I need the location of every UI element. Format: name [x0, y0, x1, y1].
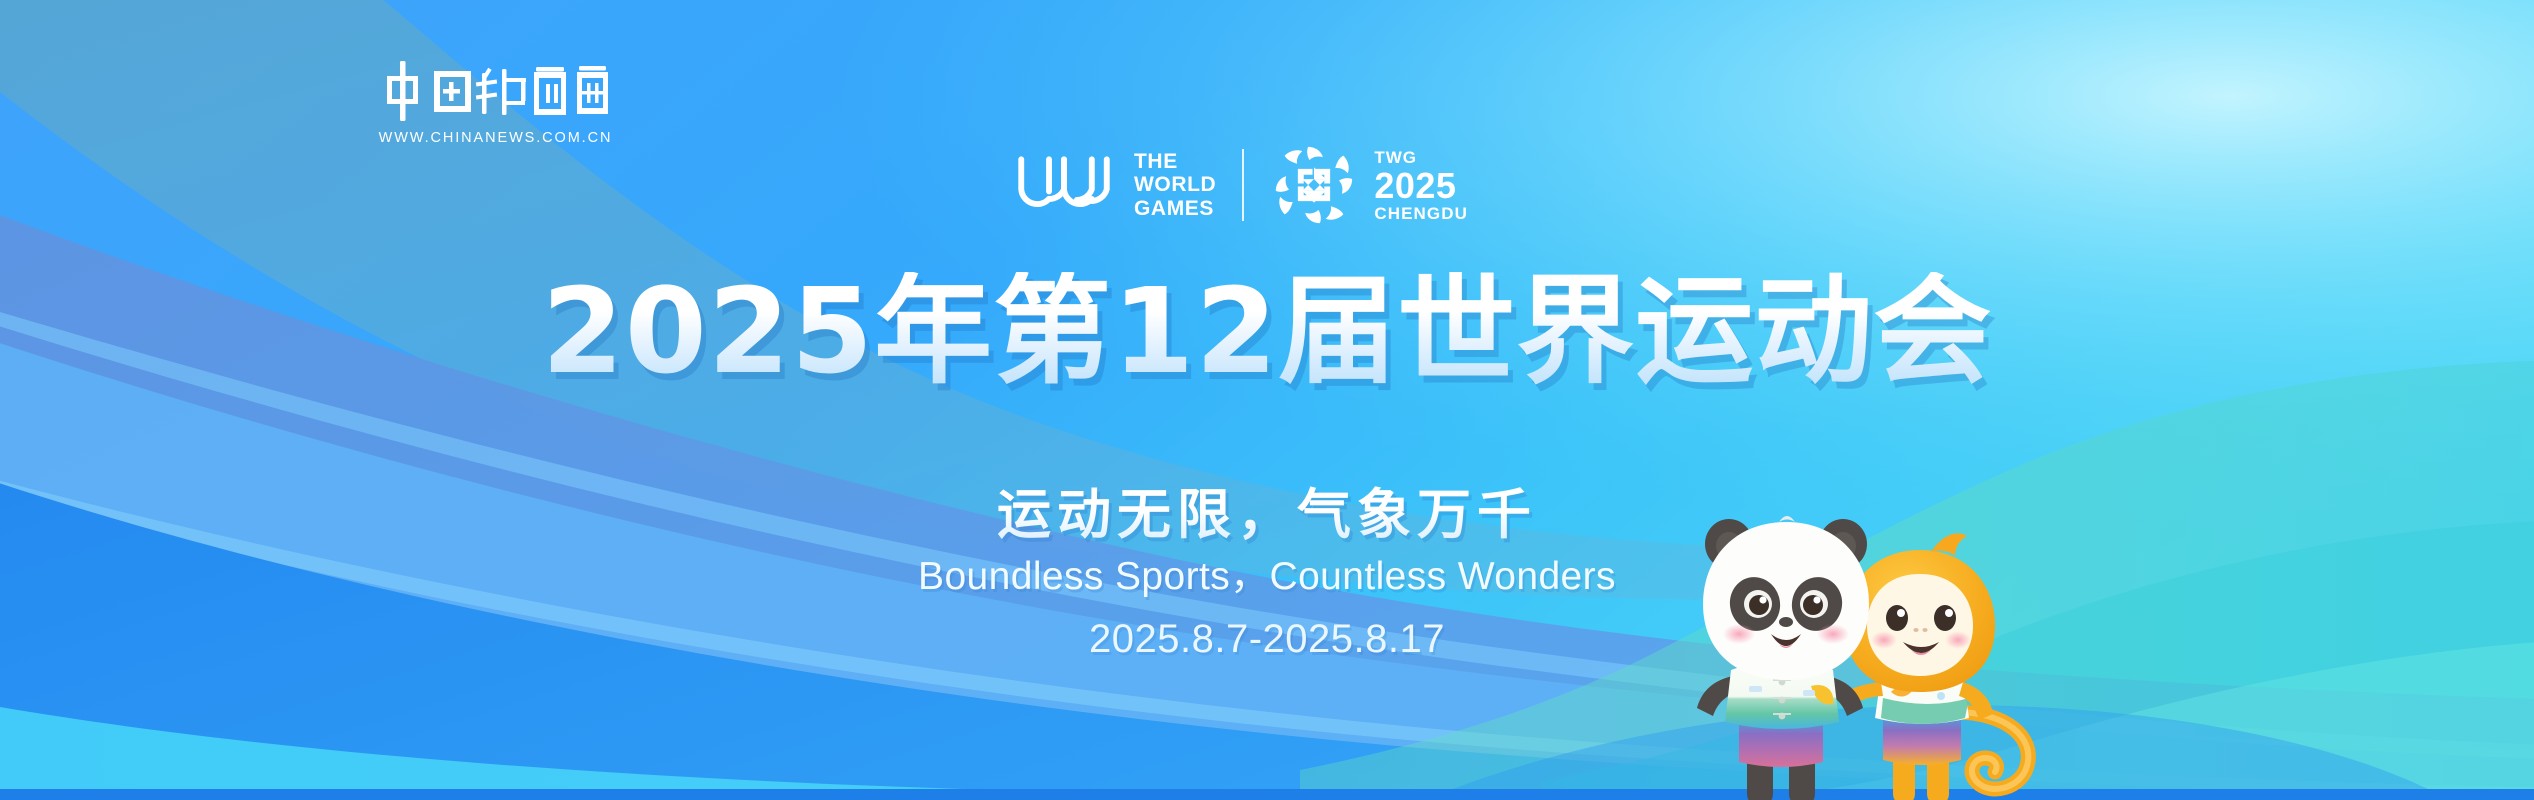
- mascot-group: [1655, 500, 2085, 800]
- wg-line-games: GAMES: [1134, 197, 1216, 221]
- twg-line-year: 2025: [1374, 168, 1468, 204]
- panda-jacket-badge-b: [1803, 690, 1815, 696]
- event-lockup: THE WORLD GAMES: [1010, 140, 1468, 230]
- panda-jacket-badge-a: [1749, 686, 1762, 692]
- bottom-strip: [0, 789, 2534, 800]
- monkey-eye-right: [1934, 605, 1956, 631]
- twg-line-city: CHENGDU: [1374, 205, 1468, 222]
- world-games-w-icon: [1010, 154, 1118, 216]
- chinanews-url: WWW.CHINANEWS.COM.CN: [378, 130, 613, 146]
- twg-line-abbrev: TWG: [1374, 149, 1468, 166]
- world-games-wordmark: THE WORLD GAMES: [1134, 150, 1216, 221]
- panda-mascot: [1697, 516, 1869, 800]
- page-title: 2025年第12届世界运动会: [0, 272, 2534, 390]
- panda-head: [1703, 522, 1869, 680]
- panda-eye-right: [1803, 595, 1823, 615]
- monkey-shirt-badge: [1937, 692, 1945, 700]
- monkey-face: [1867, 574, 1973, 676]
- event-date-range: 2025.8.7-2025.8.17: [0, 617, 2534, 662]
- twg-wordmark: TWG 2025 CHENGDU: [1374, 149, 1468, 222]
- world-games-block: THE WORLD GAMES: [1010, 150, 1216, 221]
- panda-eye-left: [1749, 595, 1769, 615]
- panda-nose: [1779, 617, 1793, 627]
- panda-head-tuft: [1779, 516, 1795, 522]
- twg-chengdu-block: TWG 2025 CHENGDU: [1270, 141, 1468, 229]
- golden-monkey-mascot: [1837, 533, 2028, 800]
- slogan-chinese: 运动无限，气象万千: [0, 470, 2534, 549]
- wg-line-the: THE: [1134, 150, 1216, 174]
- chinanews-logo[interactable]: WWW.CHINANEWS.COM.CN: [378, 58, 613, 154]
- slogan-english: Boundless Sports，Countless Wonders: [0, 545, 2534, 601]
- lockup-divider: [1242, 149, 1244, 221]
- world-games-banner: WWW.CHINANEWS.COM.CN THE WORLD GAMES: [0, 0, 2534, 800]
- monkey-eye-left: [1886, 605, 1908, 631]
- twg-chengdu-emblem-icon: [1270, 141, 1358, 229]
- chinanews-wordmark-icon: [378, 58, 613, 124]
- wg-line-world: WORLD: [1134, 173, 1216, 197]
